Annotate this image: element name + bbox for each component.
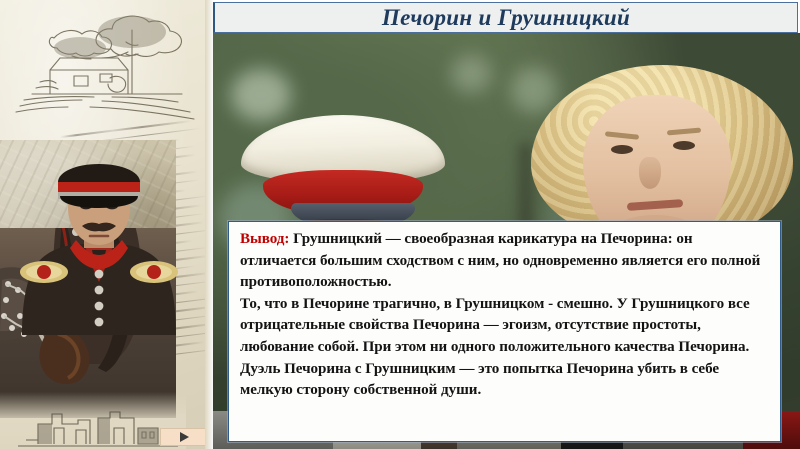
conclusion-paragraph-1: Вывод: Грушницкий — своеобразная карикат… — [240, 229, 770, 294]
eye-right — [673, 141, 695, 150]
hut-and-tree-engraving-icon — [14, 8, 200, 120]
play-triangle-icon — [180, 432, 189, 442]
eye-left — [611, 145, 633, 154]
bokeh-blob — [451, 55, 491, 93]
bokeh-blob — [231, 69, 291, 121]
officer-portrait — [14, 150, 184, 335]
page-title: Печорин и Грушницкий — [382, 5, 630, 31]
conclusion-paragraph-3: Дуэль Печорина с Грушницким — это попытк… — [240, 359, 770, 402]
play-button[interactable] — [160, 428, 208, 446]
title-bar: Печорин и Грушницкий — [213, 2, 798, 33]
conclusion-textbox: Вывод: Грушницкий — своеобразная карикат… — [228, 221, 781, 442]
nose — [639, 157, 661, 189]
illustration-panel — [0, 0, 213, 449]
conclusion-paragraph-2: То, что в Печорине трагично, в Грушницко… — [240, 294, 770, 359]
fortress-engraving-icon — [18, 398, 178, 448]
conclusion-line-1: Грушницкий — своеобразная карикатура на … — [240, 231, 760, 290]
conclusion-label: Вывод: — [240, 231, 289, 247]
slide: Печорин и Грушницкий — [0, 0, 800, 449]
